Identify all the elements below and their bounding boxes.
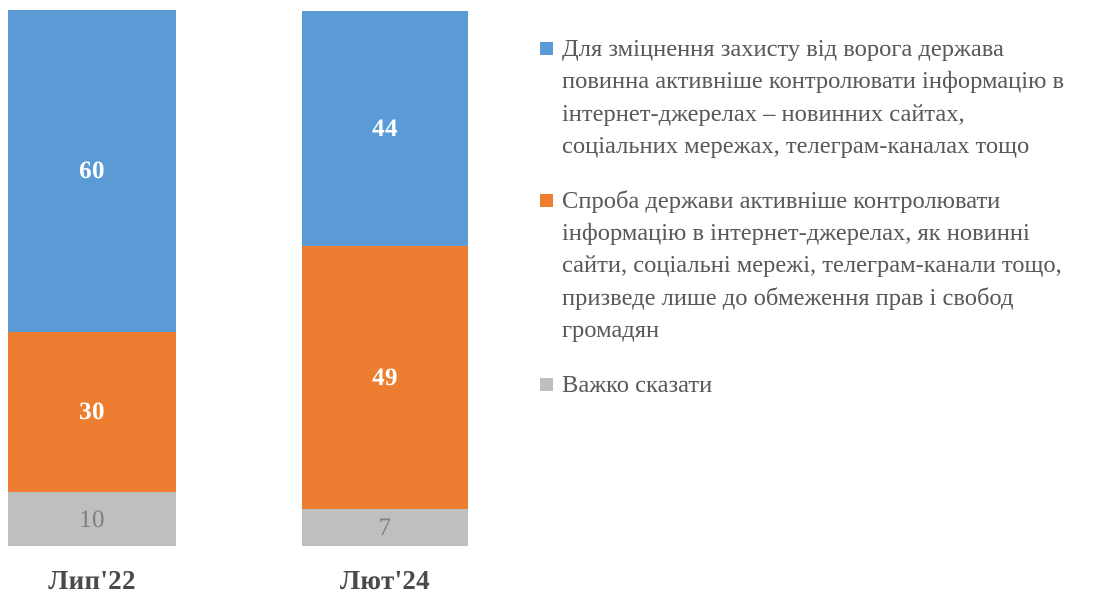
legend-swatch-icon: [540, 378, 553, 391]
legend-swatch-icon: [540, 194, 553, 207]
plot-area: 60 30 10 44 49 7 Лип'22 Лют'24: [0, 0, 520, 606]
bar-value-label: 7: [379, 515, 392, 540]
bar-value-label: 30: [79, 399, 105, 424]
legend-item-grey[interactable]: Важко сказати: [540, 369, 1088, 401]
legend-item-orange[interactable]: Спроба держави активніше контролювати ін…: [540, 185, 1088, 347]
legend-item-label: Для зміцнення захисту від ворога держава…: [562, 33, 1082, 163]
category-label-lyut24: Лют'24: [302, 565, 468, 596]
chart-legend: Для зміцнення захисту від ворога держава…: [540, 33, 1088, 423]
stacked-bar-chart: 60 30 10 44 49 7 Лип'22 Лют'24: [0, 0, 1094, 606]
category-label-lyp22: Лип'22: [8, 565, 176, 596]
legend-item-label: Спроба держави активніше контролювати ін…: [562, 185, 1082, 347]
bar-segment-orange[interactable]: 49: [302, 246, 468, 508]
bar-segment-orange[interactable]: 30: [8, 332, 176, 493]
bar-value-label: 60: [79, 158, 105, 183]
legend-item-blue[interactable]: Для зміцнення захисту від ворога держава…: [540, 33, 1088, 163]
bar-value-label: 49: [372, 365, 398, 390]
bar-segment-blue[interactable]: 60: [8, 10, 176, 332]
bar-column-lyut24: 44 49 7: [302, 11, 468, 546]
bar-value-label: 44: [372, 116, 398, 141]
bar-segment-grey[interactable]: 7: [302, 509, 468, 546]
bar-value-label: 10: [79, 507, 105, 532]
bar-segment-grey[interactable]: 10: [8, 492, 176, 546]
bar-segment-blue[interactable]: 44: [302, 11, 468, 246]
legend-swatch-icon: [540, 42, 553, 55]
legend-item-label: Важко сказати: [562, 369, 712, 401]
bar-column-lyp22: 60 30 10: [8, 10, 176, 546]
